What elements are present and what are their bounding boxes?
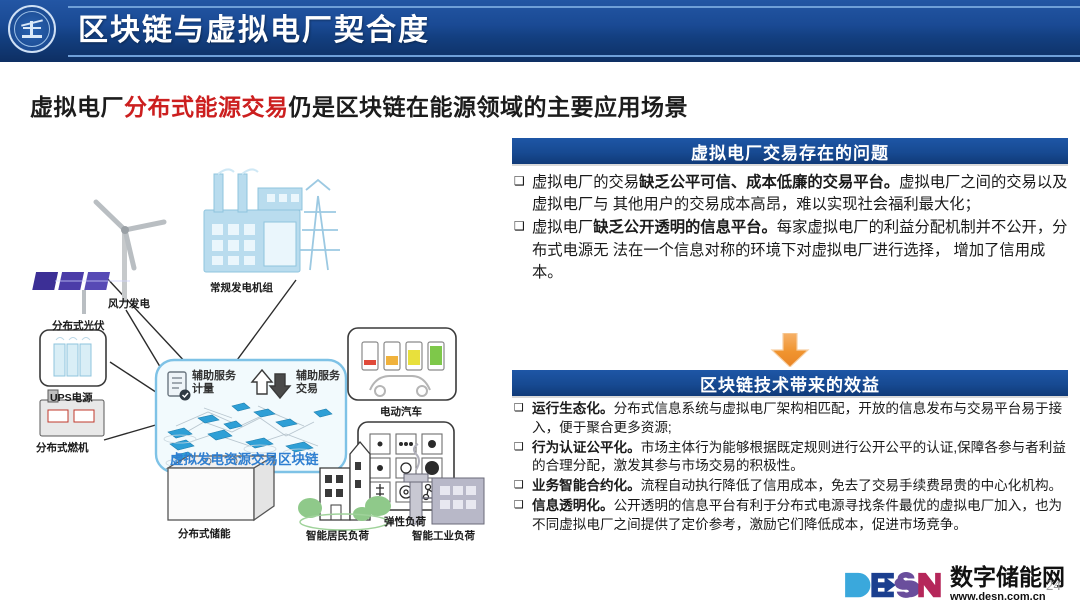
- diagram-label-wind: 风力发电: [108, 296, 150, 311]
- desn-logo-icon: [840, 571, 944, 601]
- diagram-label-industrial: 智能工业负荷: [412, 528, 475, 543]
- bullet-text: 信息透明化。公开透明的信息平台有利于分布式电源寻找条件最优的虚拟电厂加入，也为不…: [532, 497, 1070, 535]
- down-arrow-icon: [770, 333, 810, 367]
- bullet-text: 行为认证公平化。市场主体行为能够根据既定规则进行公开公平的认证,保障各参与者利益…: [532, 439, 1070, 477]
- diagram-label-metering: 辅助服务计量: [192, 370, 236, 395]
- bullet-marker-icon: ❑: [514, 172, 532, 191]
- bullet-text: 虚拟电厂的交易缺乏公平可信、成本低廉的交易平台。虚拟电厂之间的交易以及虚拟电厂与…: [532, 172, 1070, 216]
- diagram-label-ev: 电动汽车: [380, 404, 422, 419]
- panel-header-problems: 虚拟电厂交易存在的问题: [512, 138, 1068, 166]
- bullet-text: 运行生态化。分布式信息系统与虚拟电厂架构相匹配，开放的信息发布与交易平台易于接入…: [532, 400, 1070, 438]
- bullet-marker-icon: ❑: [514, 497, 532, 514]
- power-plant-icon: [204, 169, 302, 272]
- slide-subtitle-part2: 仍是区块链在能源领域的主要应用场景: [289, 94, 689, 120]
- bullet-marker-icon: ❑: [514, 477, 532, 494]
- diagram-center-label: 虚拟发电资源交易区块链: [170, 448, 319, 468]
- university-seal-icon: [8, 5, 60, 57]
- bullet-plain: 流程自动执行降低了信用成本，免去了交易手续费昂贵的中心化机构。: [641, 478, 1062, 493]
- bullet-emphasis: 业务智能合约化。: [532, 478, 641, 493]
- bullet-item: ❑信息透明化。公开透明的信息平台有利于分布式电源寻找条件最优的虚拟电厂加入，也为…: [514, 497, 1070, 535]
- bullet-item: ❑业务智能合约化。流程自动执行降低了信用成本，免去了交易手续费昂贵的中心化机构。: [514, 477, 1070, 496]
- diagram-canvas: [18, 150, 504, 570]
- slide-subtitle-highlight: 分布式能源交易: [124, 94, 289, 120]
- diagram-label-pv: 分布式光伏: [52, 318, 105, 333]
- transmission-tower-icon: [300, 180, 340, 270]
- diagram-label-storage: 分布式储能: [178, 526, 231, 541]
- header-rule-bottom: [68, 55, 1080, 57]
- slide-subtitle: 虚拟电厂分布式能源交易仍是区块链在能源领域的主要应用场景: [30, 88, 688, 122]
- panel-body-benefits: ❑运行生态化。分布式信息系统与虚拟电厂架构相匹配，开放的信息发布与交易平台易于接…: [514, 400, 1070, 535]
- diagram-label-gas: 分布式燃机: [36, 440, 89, 455]
- diagram-label-genset: 常规发电机组: [210, 280, 273, 295]
- panel-title-problems: 虚拟电厂交易存在的问题: [691, 139, 889, 164]
- bullet-plain: 虚拟电厂: [532, 219, 593, 236]
- bullet-emphasis: 行为认证公平化。: [532, 440, 641, 455]
- electric-car-icon: [348, 328, 456, 400]
- diagram-label-residential: 智能居民负荷: [306, 528, 369, 543]
- bullet-marker-icon: ❑: [514, 439, 532, 456]
- ups-battery-icon: [40, 330, 106, 386]
- bullet-item: ❑虚拟电厂缺乏公开透明的信息平台。每家虚拟电厂的利益分配机制并不公开，分布式电源…: [514, 217, 1070, 284]
- bullet-emphasis: 运行生态化。: [532, 401, 614, 416]
- header-rule-top: [68, 6, 1080, 8]
- bullet-emphasis: 缺乏公开透明的信息平台。: [593, 219, 777, 236]
- bullet-marker-icon: ❑: [514, 400, 532, 417]
- panel-body-problems: ❑虚拟电厂的交易缺乏公平可信、成本低廉的交易平台。虚拟电厂之间的交易以及虚拟电厂…: [514, 172, 1070, 285]
- bullet-emphasis: 缺乏公平可信、成本低廉的交易平台。: [639, 174, 899, 191]
- bullet-item: ❑行为认证公平化。市场主体行为能够根据既定规则进行公开公平的认证,保障各参与者利…: [514, 439, 1070, 477]
- bullet-text: 虚拟电厂缺乏公开透明的信息平台。每家虚拟电厂的利益分配机制并不公开，分布式电源无…: [532, 217, 1070, 284]
- bullet-item: ❑运行生态化。分布式信息系统与虚拟电厂架构相匹配，开放的信息发布与交易平台易于接…: [514, 400, 1070, 438]
- diagram-label-trading: 辅助服务交易: [296, 370, 340, 395]
- slide-subtitle-part1: 虚拟电厂: [30, 94, 124, 120]
- vpp-blockchain-diagram: 风力发电 分布式光伏 常规发电机组 UPS电源 分布式燃机 分布式储能 智能居民…: [18, 150, 504, 570]
- diagram-label-ups: UPS电源: [50, 390, 93, 405]
- diagram-label-flexible: 弹性负荷: [384, 514, 426, 529]
- bullet-item: ❑虚拟电厂的交易缺乏公平可信、成本低廉的交易平台。虚拟电厂之间的交易以及虚拟电厂…: [514, 172, 1070, 216]
- bullet-marker-icon: ❑: [514, 217, 532, 236]
- bullet-plain: 虚拟电厂的交易: [532, 174, 639, 191]
- page-number: 24: [1046, 578, 1061, 595]
- panel-header-benefits: 区块链技术带来的效益: [512, 370, 1068, 398]
- panel-title-benefits: 区块链技术带来的效益: [700, 371, 880, 396]
- bullet-text: 业务智能合约化。流程自动执行降低了信用成本，免去了交易手续费昂贵的中心化机构。: [532, 477, 1070, 496]
- slide-header: 区块链与虚拟电厂契合度: [0, 0, 1080, 62]
- watermark-desn: 数字储能网 www.desn.com.cn: [840, 566, 1076, 606]
- bullet-emphasis: 信息透明化。: [532, 498, 614, 513]
- page-title: 区块链与虚拟电厂契合度: [78, 16, 430, 46]
